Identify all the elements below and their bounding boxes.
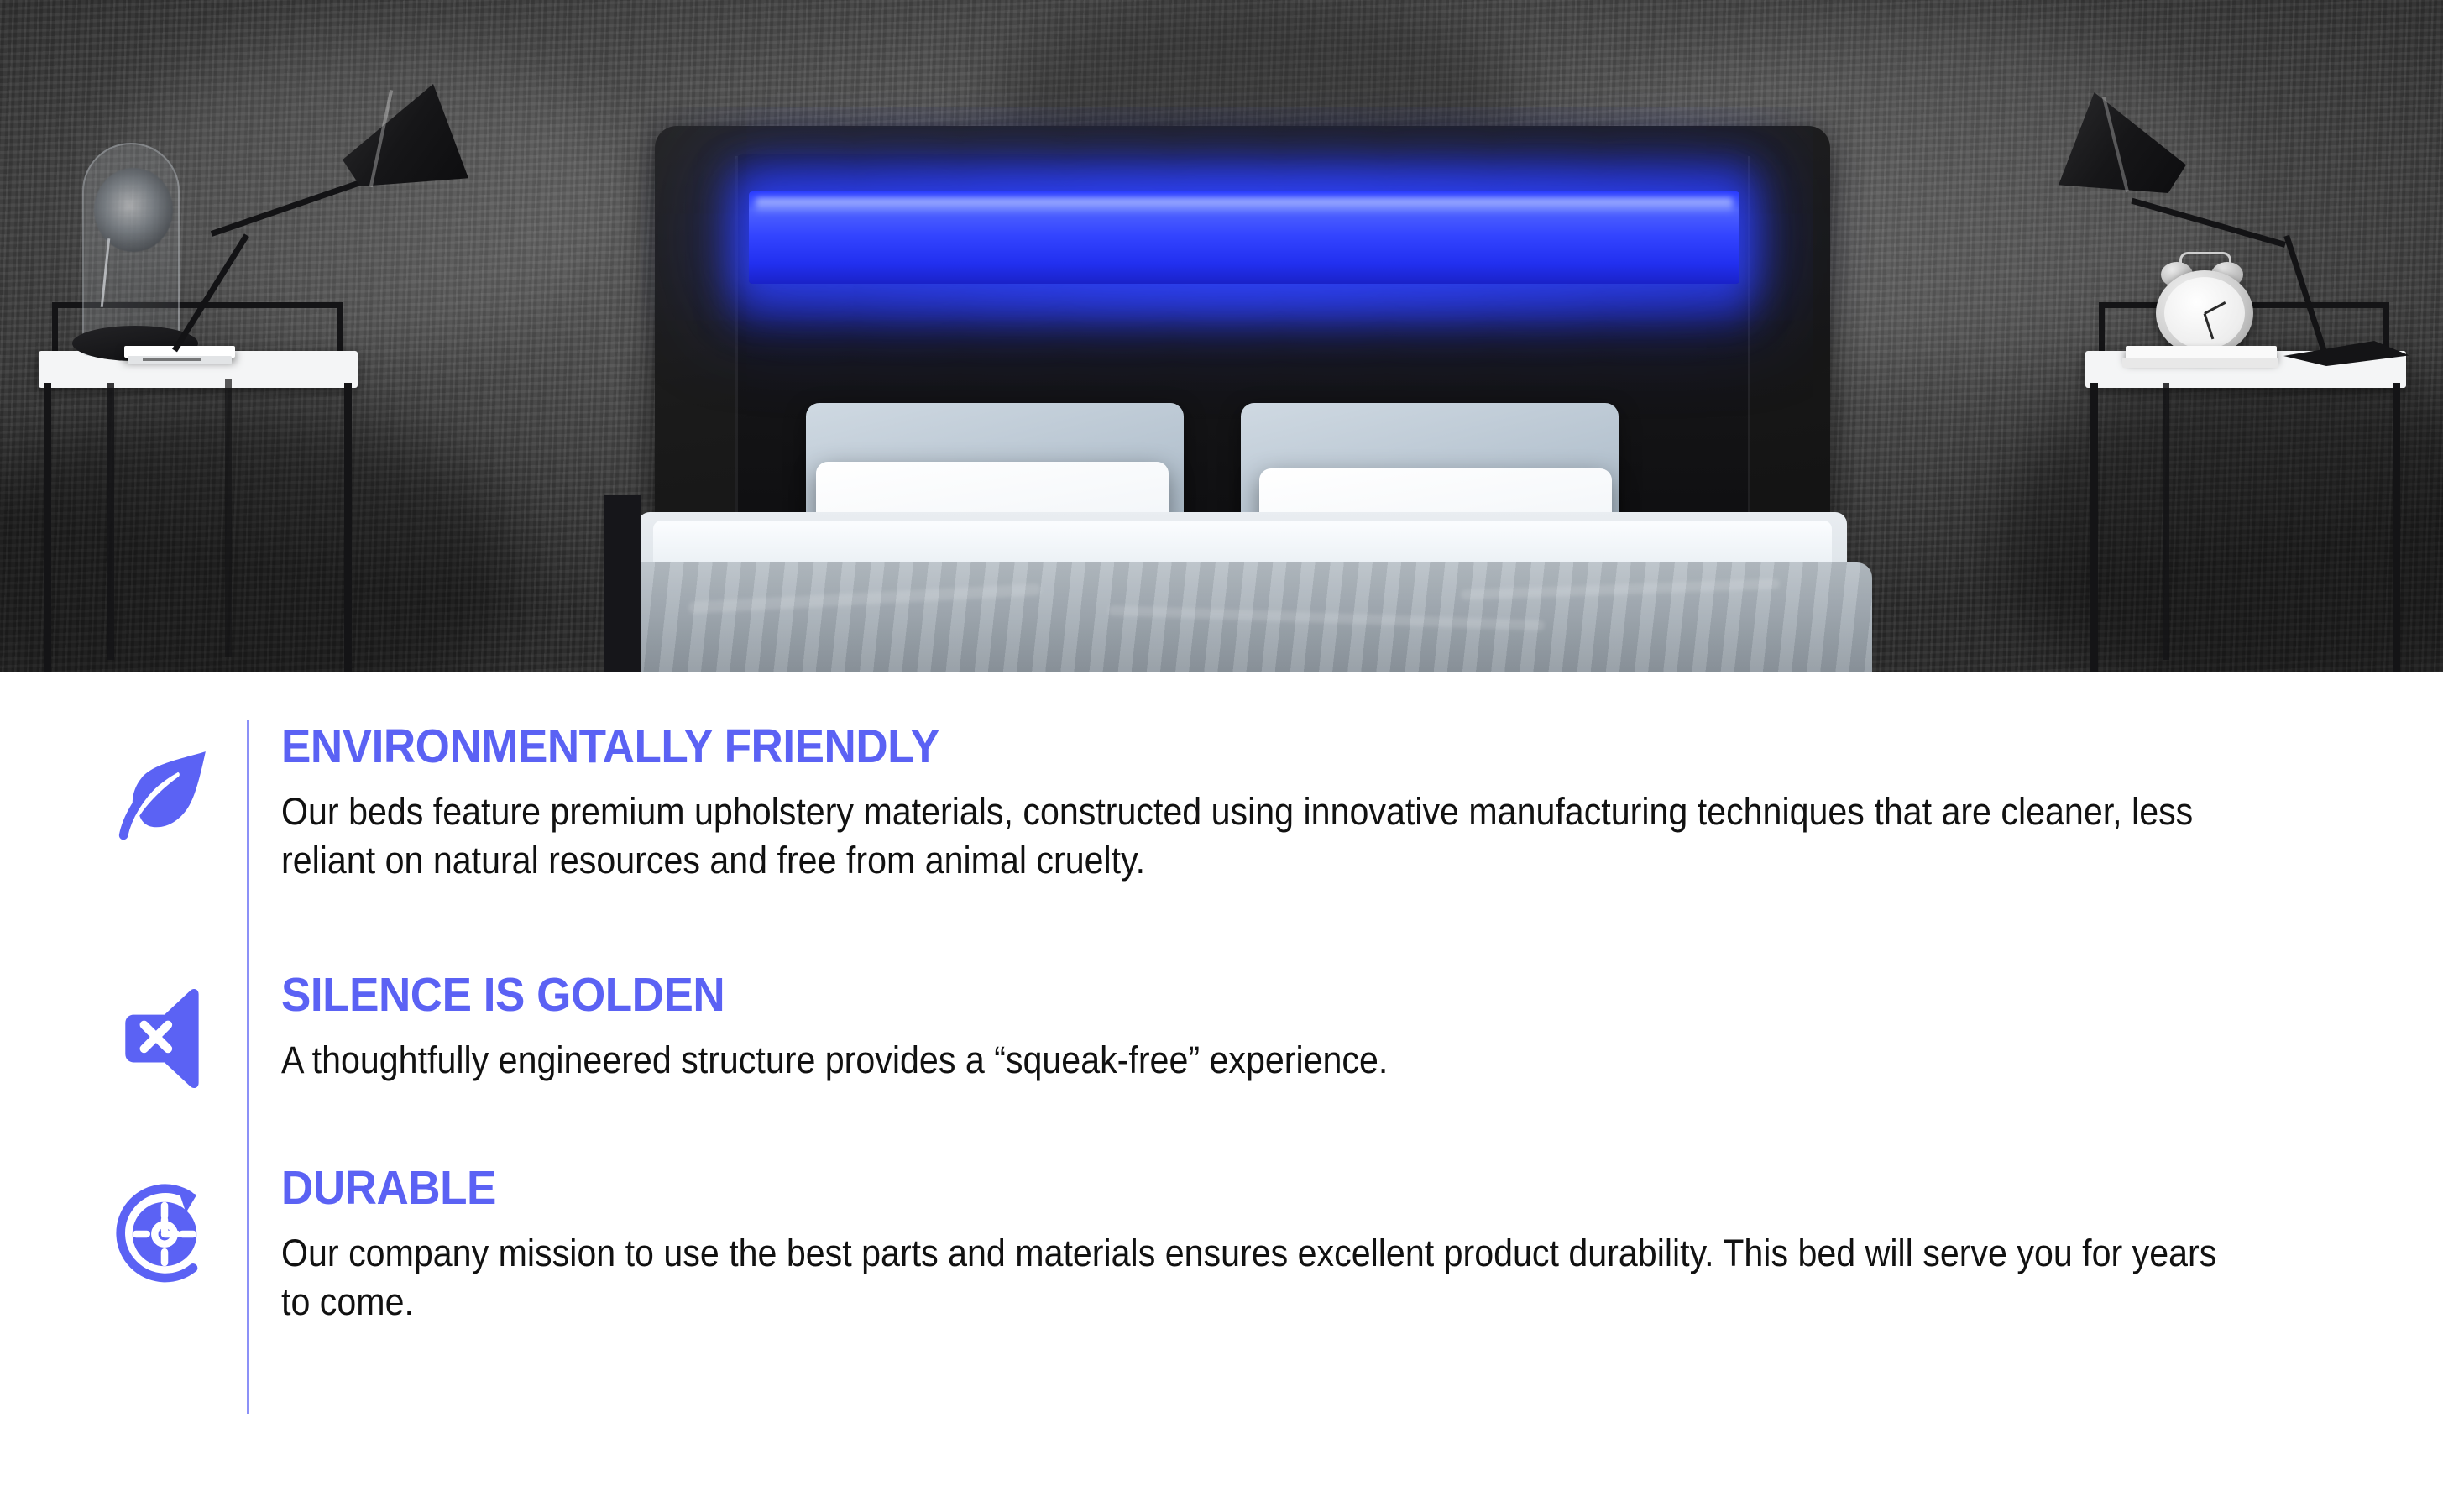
nightstand-leg-left [2090, 383, 2098, 672]
book-title-text [143, 358, 201, 361]
feature-list: ENVIRONMENTALLY FRIENDLY Our beds featur… [0, 672, 2443, 1512]
dried-plant [94, 168, 173, 252]
left-nightstand [17, 302, 369, 672]
feature-body: SILENCE IS GOLDEN A thoughtfully enginee… [281, 969, 2443, 1085]
feature-divider-rule [247, 969, 249, 1162]
clock-handle [2179, 252, 2231, 263]
feature-description: Our beds feature premium upholstery mate… [281, 787, 2232, 886]
feature-title: SILENCE IS GOLDEN [281, 971, 2292, 1021]
nightstand-rail-left [2099, 302, 2105, 356]
nightstand-rail-right [337, 302, 343, 356]
feature-description: A thoughtfully engineered structure prov… [281, 1036, 2232, 1086]
feature-item-silence-is-golden: SILENCE IS GOLDEN A thoughtfully enginee… [0, 969, 2443, 1162]
feature-divider-rule [247, 720, 249, 969]
led-highlight [756, 198, 1733, 213]
nightstand-leg-mid [107, 383, 114, 660]
feature-body: DURABLE Our company mission to use the b… [281, 1162, 2443, 1327]
nightstand-leg-right [344, 383, 352, 672]
feature-title: DURABLE [281, 1164, 2292, 1214]
feature-description: Our company mission to use the best part… [281, 1229, 2232, 1327]
nightstand-leg-right [2393, 383, 2400, 672]
hero-product-photo [0, 0, 2443, 672]
feature-body: ENVIRONMENTALLY FRIENDLY Our beds featur… [281, 720, 2443, 886]
feature-item-environmentally-friendly: ENVIRONMENTALLY FRIENDLY Our beds featur… [0, 720, 2443, 969]
leaf-icon [82, 720, 247, 850]
book-stack-lower [2122, 358, 2278, 368]
nightstand-leg-mid [2163, 383, 2169, 660]
clock-refresh-icon [82, 1162, 247, 1291]
nightstand-leg-left [44, 383, 51, 672]
led-bed [638, 126, 1847, 672]
nightstand-leg-back [225, 379, 232, 657]
feature-title: ENVIRONMENTALLY FRIENDLY [281, 722, 2292, 772]
feature-divider-rule [247, 1162, 249, 1414]
speaker-mute-icon [82, 969, 247, 1093]
right-nightstand [2074, 302, 2426, 672]
feature-item-durable: DURABLE Our company mission to use the b… [0, 1162, 2443, 1414]
nightstand-rail-left [52, 302, 58, 356]
bed-frame-left [604, 495, 641, 672]
